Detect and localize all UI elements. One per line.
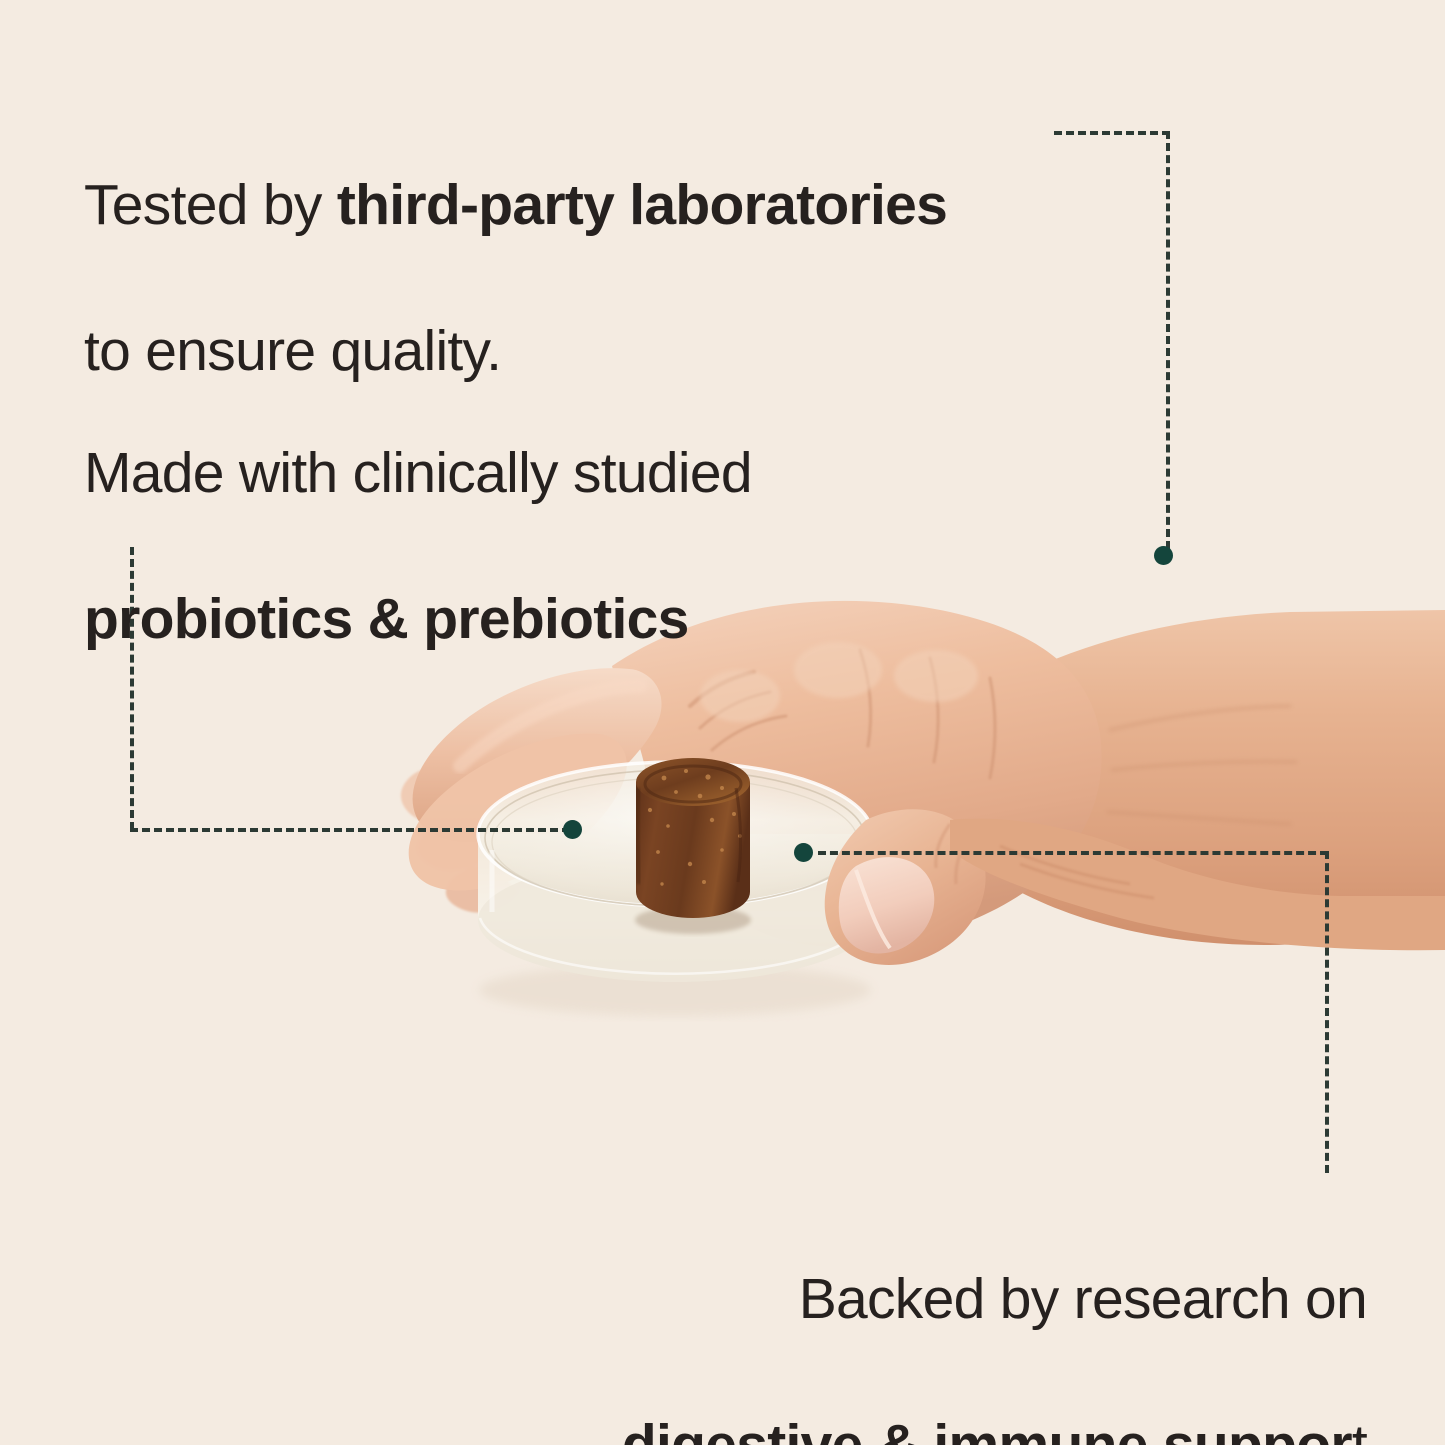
claim-text-bold: probiotics & prebiotics [84,587,689,651]
connector-probiotics-dot [563,820,582,839]
claim-line-1: Backed by research on [537,1263,1367,1336]
claim-text-plain: Tested by [84,173,337,237]
claim-line-2: probiotics & prebiotics [84,583,984,656]
connector-laboratories-dot [1154,546,1173,565]
claim-text-bold: third-party laboratories [337,173,947,237]
claim-digestive-immune-support: Backed by research on digestive & immune… [537,1190,1367,1445]
claim-text-plain: t [1352,1413,1367,1445]
claim-line-1: Made with clinically studied [84,437,984,510]
claim-line-1: Tested by third-party laboratories [84,169,1094,242]
claim-text-bold: digestive & immune suppor [622,1413,1352,1445]
connector-research-vertical [1325,851,1329,1173]
chew-treat [635,758,751,934]
connector-probiotics-horizontal [130,828,570,832]
product-claims-infographic: Tested by third-party laboratories to en… [0,0,1445,1445]
connector-research-dot [794,843,813,862]
claim-probiotics-prebiotics: Made with clinically studied probiotics … [84,364,984,729]
claim-line-2: digestive & immune support [537,1409,1367,1445]
claim-text-plain: Made with clinically studied [84,441,752,505]
connector-research-horizontal [818,851,1328,855]
claim-text-plain: Backed by research on [799,1267,1367,1331]
connector-laboratories-vertical [1166,131,1170,549]
